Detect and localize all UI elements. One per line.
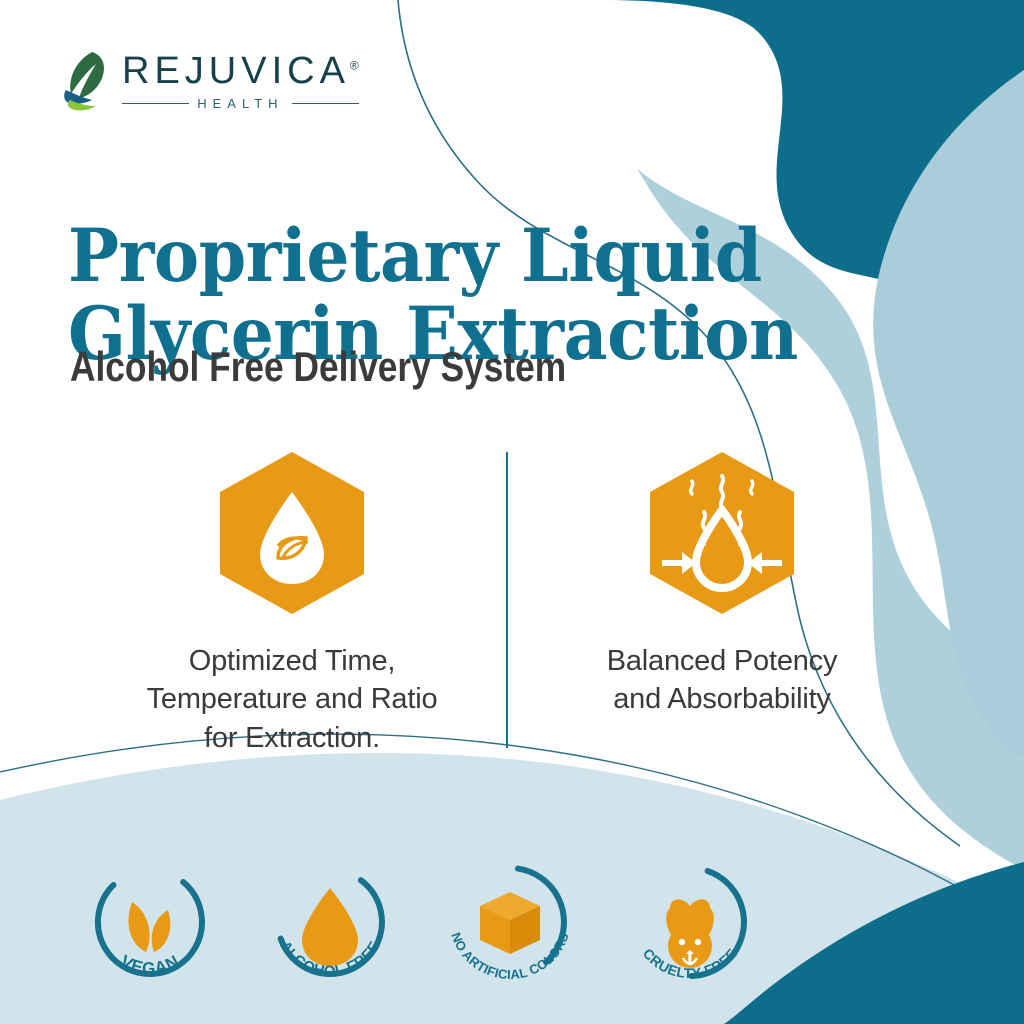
page-title-line-1: Proprietary Liquid (68, 217, 831, 295)
logo-rule-right (292, 103, 359, 104)
rabbit-heart-icon (663, 899, 718, 968)
feature-optimized-extraction: Optimized Time, Temperature and Ratio fo… (82, 448, 502, 757)
feature-divider (506, 452, 508, 748)
registered-mark: ® (350, 58, 359, 72)
badge-no-artificial-colors[interactable]: NO ARTIFICIAL COLORS (440, 852, 580, 992)
feature-caption-line-2: and Absorbability (607, 680, 838, 718)
page-subtitle: Alcohol Free Delivery System (70, 343, 566, 391)
feature-caption-line-2: Temperature and Ratio (147, 680, 438, 718)
logo-rule-left (122, 103, 189, 104)
droplet-icon (302, 888, 358, 966)
leaf-logo-icon (62, 50, 114, 112)
badge-cruelty-free[interactable]: CRUELTY-FREE (620, 852, 760, 992)
leaf-right-icon (152, 910, 171, 952)
trust-badge-row: VEGAN ALCOHOL FREE (80, 852, 760, 992)
feature-caption: Optimized Time, Temperature and Ratio fo… (147, 642, 438, 757)
feature-caption: Balanced Potency and Absorbability (607, 642, 838, 719)
logo-subtitle-row: HEALTH (122, 96, 359, 111)
droplet-leaf-hexagon-icon (212, 448, 372, 618)
badge-alcohol-free[interactable]: ALCOHOL FREE (260, 852, 400, 992)
brand-logo[interactable]: REJUVICA® HEALTH (62, 50, 359, 112)
cube-icon (480, 892, 540, 954)
logo-subtitle: HEALTH (189, 96, 291, 111)
leaf-left-icon (128, 902, 149, 952)
droplet-heat-arrows-hexagon-icon (642, 448, 802, 618)
poster-canvas: REJUVICA® HEALTH Proprietary Liquid Glyc… (0, 0, 1024, 1024)
badge-vegan[interactable]: VEGAN (80, 852, 220, 992)
feature-balanced-potency: Balanced Potency and Absorbability (512, 448, 932, 719)
feature-section: Optimized Time, Temperature and Ratio fo… (0, 448, 1024, 758)
badge-ring (98, 870, 202, 974)
badge-label: VEGAN (117, 951, 183, 978)
logo-wordmark: REJUVICA® (122, 52, 359, 90)
feature-caption-line-1: Balanced Potency (607, 642, 838, 680)
feature-caption-line-1: Optimized Time, (147, 642, 438, 680)
feature-caption-line-3: for Extraction. (147, 719, 438, 757)
wave-bottom-dark (724, 862, 1024, 1024)
